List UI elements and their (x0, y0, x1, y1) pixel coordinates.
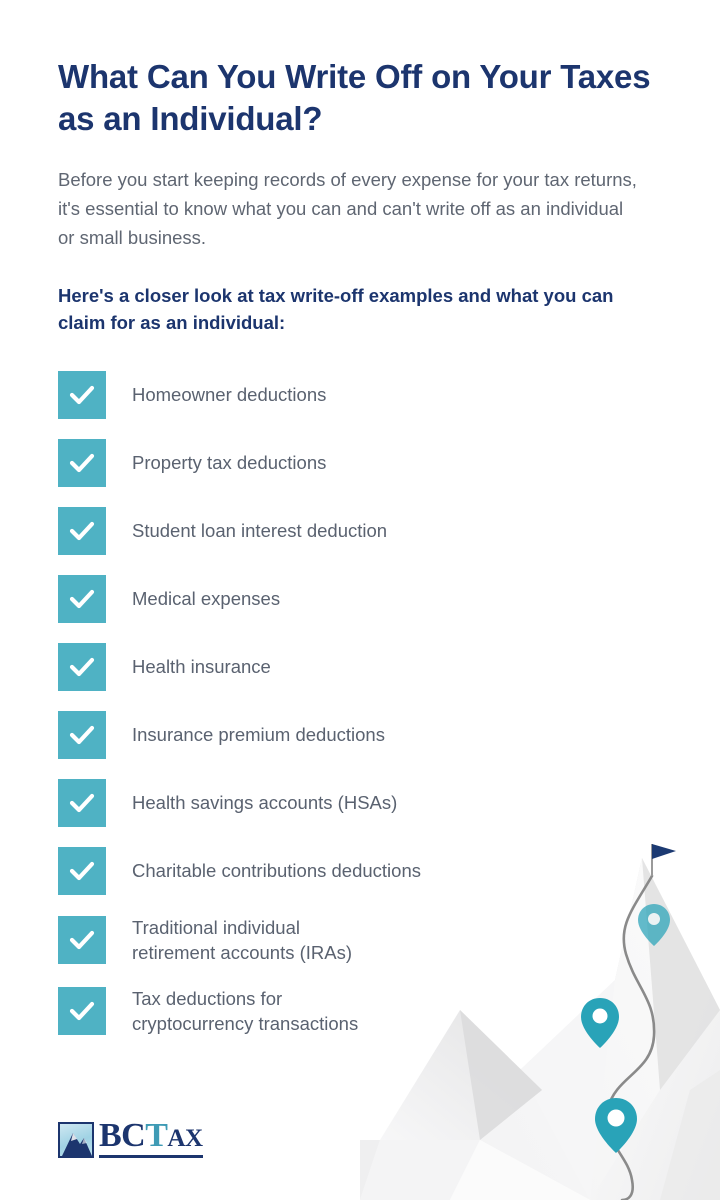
checkbox-checked-icon[interactable] (58, 371, 106, 419)
checklist-item[interactable]: Insurance premium deductions (58, 711, 662, 759)
checkbox-checked-icon[interactable] (58, 847, 106, 895)
checklist-item[interactable]: Health insurance (58, 643, 662, 691)
checkbox-checked-icon[interactable] (58, 987, 106, 1035)
checklist-item[interactable]: Homeowner deductions (58, 371, 662, 419)
checklist-item-label: Health insurance (132, 654, 271, 680)
checklist-item-label: Health savings accounts (HSAs) (132, 790, 397, 816)
checklist-item-label: Property tax deductions (132, 450, 326, 476)
checkbox-checked-icon[interactable] (58, 643, 106, 691)
checklist-item[interactable]: Student loan interest deduction (58, 507, 662, 555)
logo-text-t: T (145, 1117, 167, 1154)
checklist-item-label: Charitable contributions deductions (132, 858, 421, 884)
logo-wordmark: BCTAX (99, 1119, 203, 1158)
checkbox-checked-icon[interactable] (58, 916, 106, 964)
checklist-item[interactable]: Traditional individual retirement accoun… (58, 915, 662, 966)
checklist-item[interactable]: Charitable contributions deductions (58, 847, 662, 895)
checklist-item-label: Insurance premium deductions (132, 722, 385, 748)
checklist-item[interactable]: Property tax deductions (58, 439, 662, 487)
checkbox-checked-icon[interactable] (58, 439, 106, 487)
checklist-item[interactable]: Health savings accounts (HSAs) (58, 779, 662, 827)
infographic-body: What Can You Write Off on Your Taxes as … (0, 0, 720, 1037)
logo-text-ax: AX (167, 1125, 202, 1152)
lead-in-text: Here's a closer look at tax write-off ex… (58, 283, 638, 337)
deductions-checklist: Homeowner deductionsProperty tax deducti… (58, 371, 662, 1037)
logo-text-bc: BC (99, 1117, 145, 1154)
page-title: What Can You Write Off on Your Taxes as … (58, 56, 662, 140)
logo-underline (99, 1155, 203, 1158)
checklist-item[interactable]: Tax deductions for cryptocurrency transa… (58, 986, 662, 1037)
bctax-logo: BCTAX (58, 1119, 203, 1158)
checklist-item-label: Traditional individual retirement accoun… (132, 915, 352, 966)
checklist-item-label: Medical expenses (132, 586, 280, 612)
checklist-item-label: Student loan interest deduction (132, 518, 387, 544)
checklist-item[interactable]: Medical expenses (58, 575, 662, 623)
checklist-item-label: Homeowner deductions (132, 382, 326, 408)
mountain-icon (58, 1122, 94, 1158)
map-pin-icon (595, 1098, 637, 1153)
checklist-item-label: Tax deductions for cryptocurrency transa… (132, 986, 358, 1037)
checkbox-checked-icon[interactable] (58, 711, 106, 759)
checkbox-checked-icon[interactable] (58, 779, 106, 827)
checkbox-checked-icon[interactable] (58, 507, 106, 555)
intro-paragraph: Before you start keeping records of ever… (58, 166, 643, 253)
checkbox-checked-icon[interactable] (58, 575, 106, 623)
